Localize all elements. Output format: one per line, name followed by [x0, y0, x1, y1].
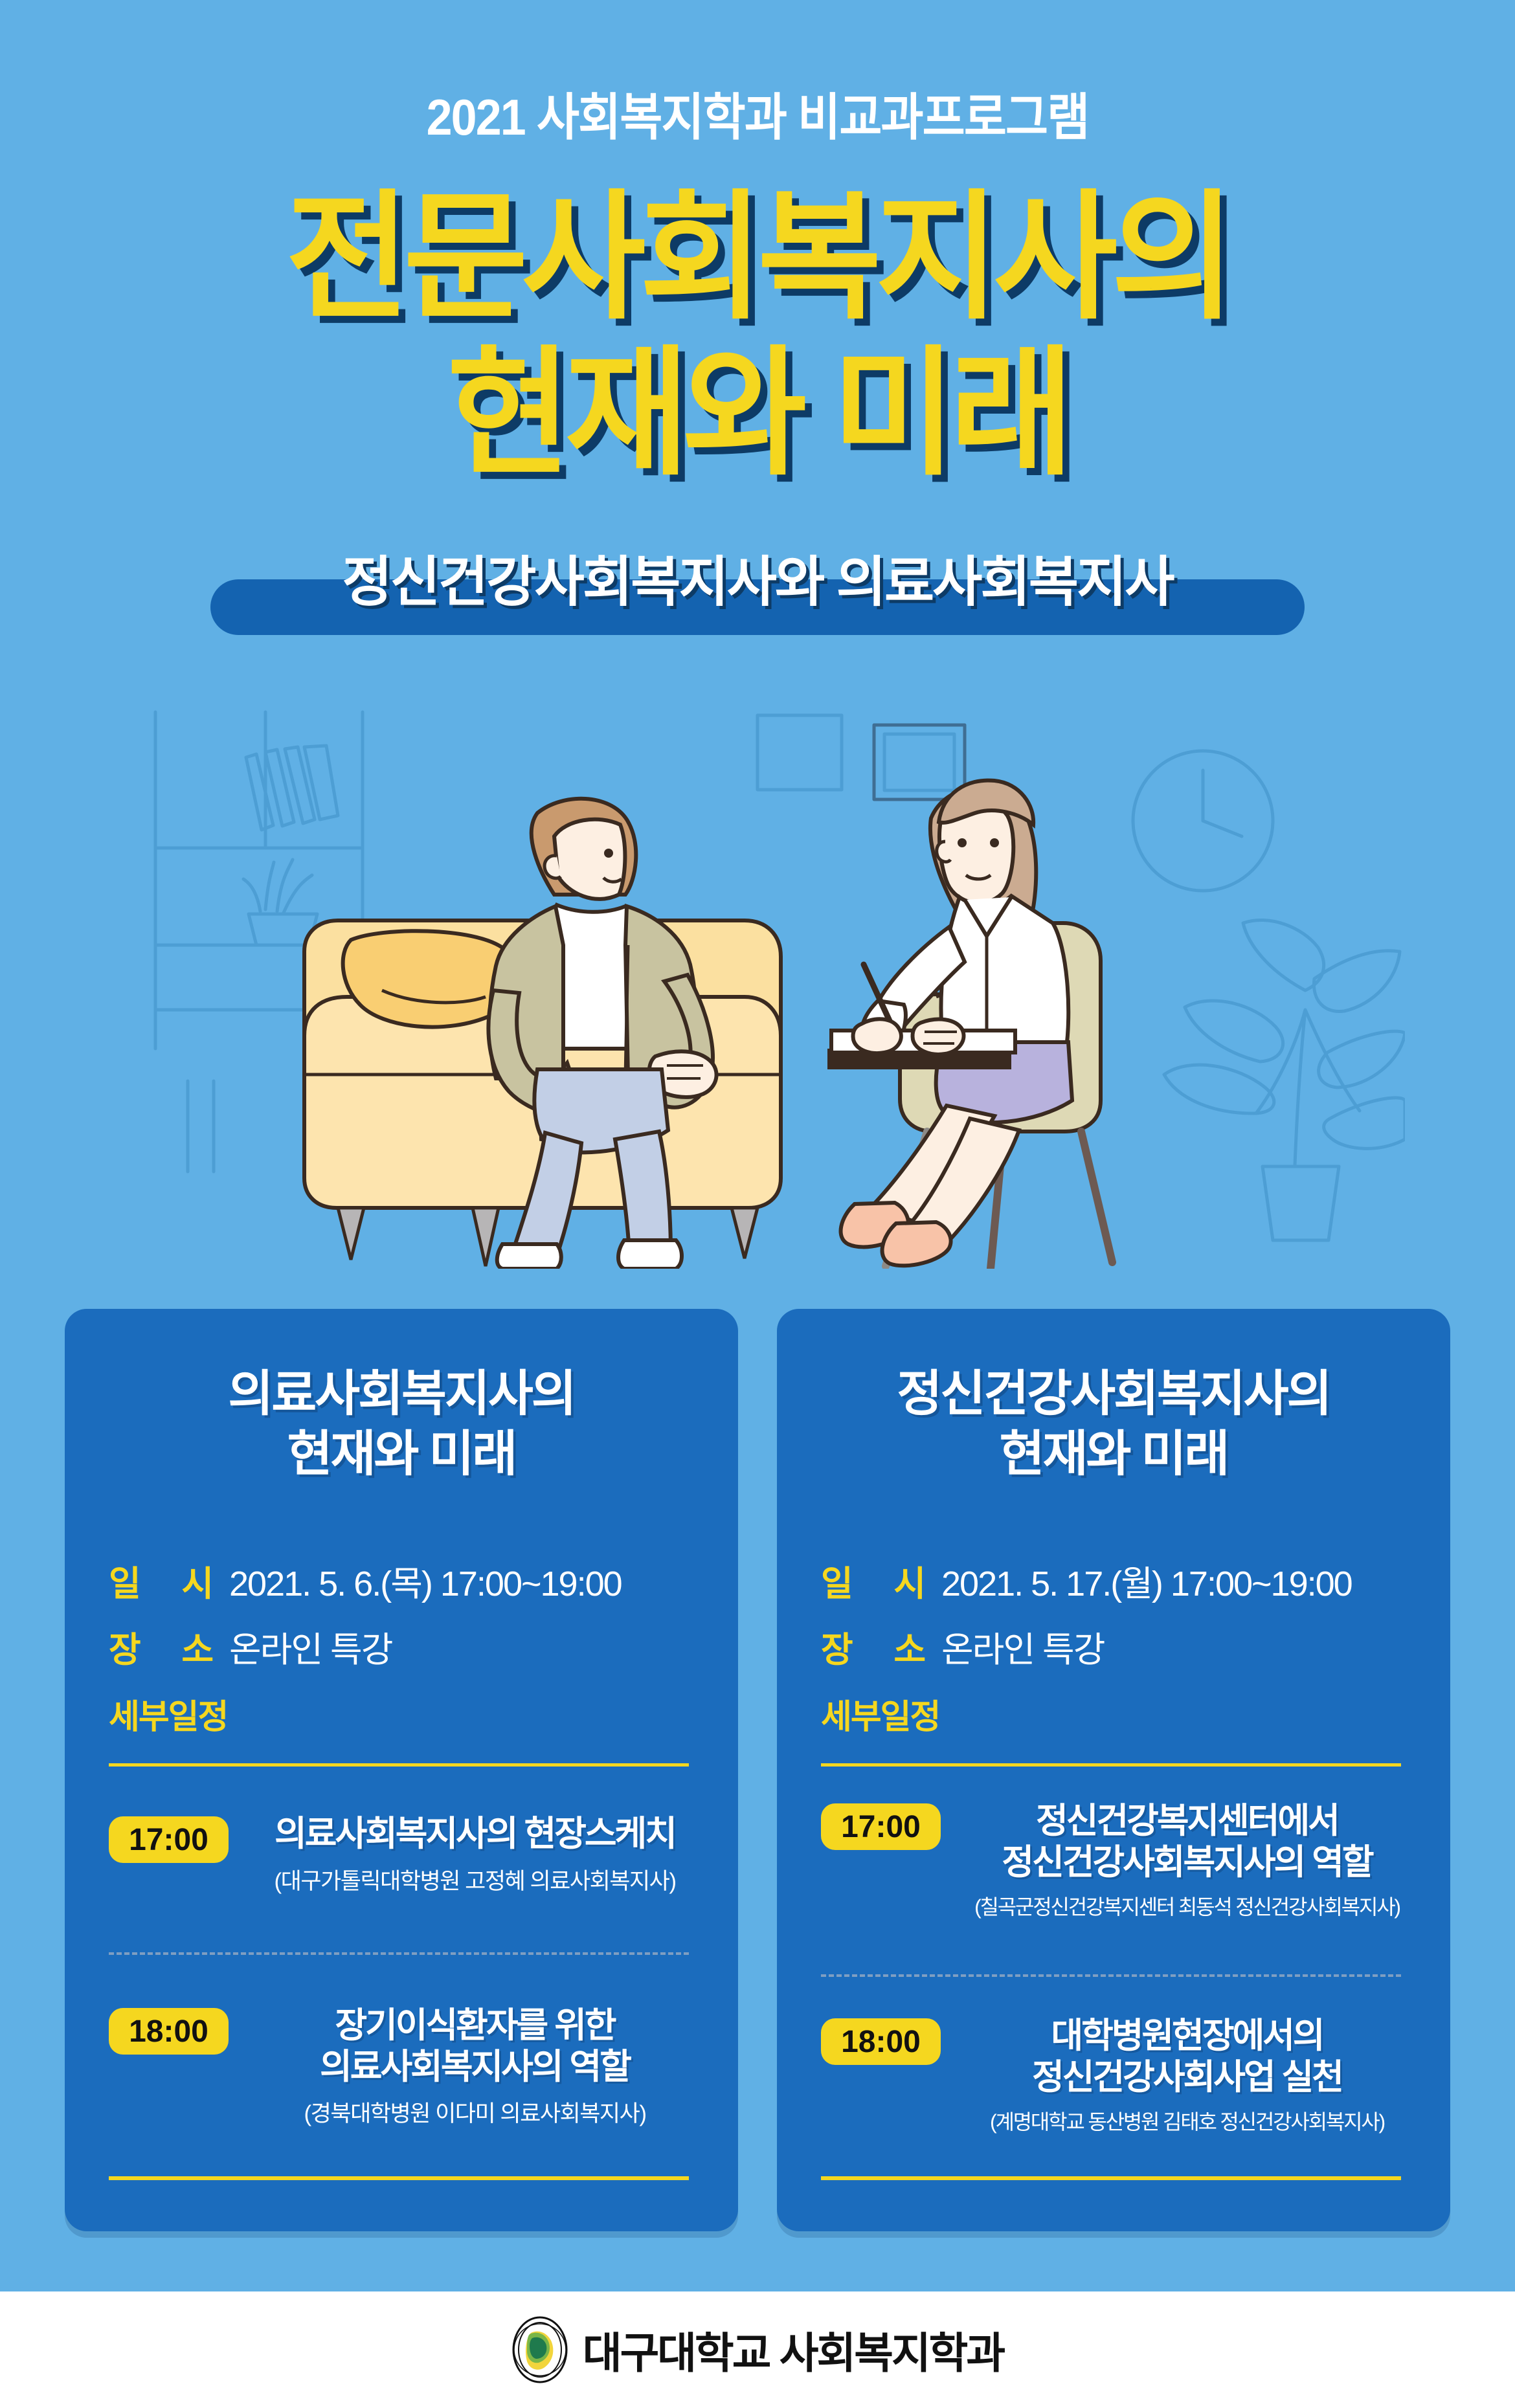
daegu-university-emblem-icon — [511, 2316, 568, 2383]
venue-value: 온라인 특강 — [941, 1621, 1104, 1672]
venue-key-2: 소 — [148, 1621, 212, 1672]
session-title: 정신건강복지센터에서 정신건강사회복지사의 역할 — [958, 1801, 1417, 1883]
venue-row: 장 소 온라인 특강 — [109, 1621, 704, 1672]
card-title-line1: 의료사회복지사의 — [228, 1366, 574, 1421]
page-title-line1: 전문사회복지사의 — [286, 179, 1229, 335]
session-speaker: (계명대학교 동산병원 김태호 정신건강사회복지사) — [958, 2106, 1417, 2135]
counseling-illustration — [110, 686, 1405, 1269]
card-title: 의료사회복지사의 현재와 미래 — [65, 1365, 738, 1484]
session-title-line: 대학병원현장에서의 — [958, 2016, 1417, 2057]
session-title-line: 정신건강사회사업 실천 — [958, 2057, 1417, 2099]
session-title-line: 장기이식환자를 위한 — [245, 2005, 704, 2047]
date-key-1: 일 — [821, 1555, 860, 1606]
session-time-badge: 17:00 — [821, 1803, 941, 1850]
footer: 대구대학교 사회복지학과 — [0, 2291, 1515, 2408]
date-key-1: 일 — [109, 1555, 148, 1606]
subtitle-banner-text: 정신건강사회복지사와 의료사회복지사 — [0, 553, 1515, 610]
session-title: 대학병원현장에서의 정신건강사회사업 실천 — [958, 2016, 1417, 2098]
card-title-line2: 현재와 미래 — [777, 1425, 1450, 1485]
session-speaker: (칠곡군정신건강복지센터 최동석 정신건강사회복지사) — [958, 1891, 1417, 1921]
session-title-line: 의료사회복지사의 현장스케치 — [245, 1814, 704, 1855]
program-cards: 의료사회복지사의 현재와 미래 일 시 2021. 5. 6.(목) 17:00… — [0, 1309, 1515, 2241]
kicker-text: 2021 사회복지학과 비교과프로그램 — [61, 92, 1455, 142]
session-title: 장기이식환자를 위한 의료사회복지사의 역할 — [245, 2005, 704, 2088]
date-key-2: 시 — [860, 1555, 925, 1606]
venue-key-1: 장 — [821, 1621, 860, 1672]
date-key-2: 시 — [148, 1555, 212, 1606]
venue-value: 온라인 특강 — [229, 1621, 392, 1672]
footer-organization: 대구대학교 사회복지학과 — [583, 2319, 1004, 2381]
schedule-bottom-rule — [109, 2176, 689, 2180]
program-card-mental-health[interactable]: 정신건강사회복지사의 현재와 미래 일 시 2021. 5. 17.(월) 17… — [777, 1309, 1450, 2231]
session-item: 17:00 정신건강복지센터에서 정신건강사회복지사의 역할 (칠곡군정신건강복… — [821, 1801, 1417, 1921]
schedule-bottom-rule — [821, 2176, 1401, 2180]
session-body: 의료사회복지사의 현장스케치 (대구가톨릭대학병원 고정혜 의료사회복지사) — [245, 1814, 704, 1896]
session-divider — [109, 1952, 689, 1955]
subtitle-banner: 정신건강사회복지사와 의료사회복지사 — [0, 553, 1515, 638]
session-time-badge: 17:00 — [109, 1816, 229, 1863]
venue-row: 장 소 온라인 특강 — [821, 1621, 1417, 1672]
session-title-line: 정신건강복지센터에서 — [958, 1801, 1417, 1842]
session-title-line: 정신건강사회복지사의 역할 — [958, 1842, 1417, 1884]
poster: 2021 사회복지학과 비교과프로그램 전문사회복지사의 현재와 미래 정신건강… — [0, 0, 1515, 2408]
session-title-line: 의료사회복지사의 역할 — [245, 2047, 704, 2088]
card-title-line2: 현재와 미래 — [65, 1425, 738, 1485]
schedule-top-rule — [821, 1763, 1401, 1767]
schedule-top-rule — [109, 1763, 689, 1767]
session-divider — [821, 1974, 1401, 1977]
session-body: 장기이식환자를 위한 의료사회복지사의 역할 (경북대학병원 이다미 의료사회복… — [245, 2005, 704, 2128]
session-speaker: (경북대학병원 이다미 의료사회복지사) — [245, 2095, 704, 2128]
session-time-badge: 18:00 — [821, 2018, 941, 2065]
session-item: 18:00 대학병원현장에서의 정신건강사회사업 실천 (계명대학교 동산병원 … — [821, 2016, 1417, 2135]
session-item: 17:00 의료사회복지사의 현장스케치 (대구가톨릭대학병원 고정혜 의료사회… — [109, 1814, 704, 1896]
page-title: 전문사회복지사의 현재와 미래 — [23, 180, 1492, 492]
session-title: 의료사회복지사의 현장스케치 — [245, 1814, 704, 1855]
counselor-figure-and-chair — [827, 781, 1112, 1269]
session-time-badge: 18:00 — [109, 2008, 229, 2055]
session-body: 대학병원현장에서의 정신건강사회사업 실천 (계명대학교 동산병원 김태호 정신… — [958, 2016, 1417, 2135]
date-row: 일 시 2021. 5. 17.(월) 17:00~19:00 — [821, 1555, 1417, 1606]
schedule-label: 세부일정 — [821, 1689, 939, 1738]
session-item: 18:00 장기이식환자를 위한 의료사회복지사의 역할 (경북대학병원 이다미… — [109, 2005, 704, 2128]
venue-key-1: 장 — [109, 1621, 148, 1672]
page-title-line2: 현재와 미래 — [23, 336, 1492, 492]
venue-key-2: 소 — [860, 1621, 925, 1672]
session-body: 정신건강복지센터에서 정신건강사회복지사의 역할 (칠곡군정신건강복지센터 최동… — [958, 1801, 1417, 1921]
schedule-label: 세부일정 — [109, 1689, 227, 1738]
date-row: 일 시 2021. 5. 6.(목) 17:00~19:00 — [109, 1555, 704, 1606]
card-title: 정신건강사회복지사의 현재와 미래 — [777, 1365, 1450, 1484]
date-value: 2021. 5. 17.(월) 17:00~19:00 — [941, 1555, 1352, 1606]
date-value: 2021. 5. 6.(목) 17:00~19:00 — [229, 1555, 622, 1606]
client-figure-and-sofa — [304, 799, 781, 1269]
card-title-line1: 정신건강사회복지사의 — [897, 1366, 1330, 1421]
session-speaker: (대구가톨릭대학병원 고정혜 의료사회복지사) — [245, 1863, 704, 1896]
program-card-medical[interactable]: 의료사회복지사의 현재와 미래 일 시 2021. 5. 6.(목) 17:00… — [65, 1309, 738, 2231]
